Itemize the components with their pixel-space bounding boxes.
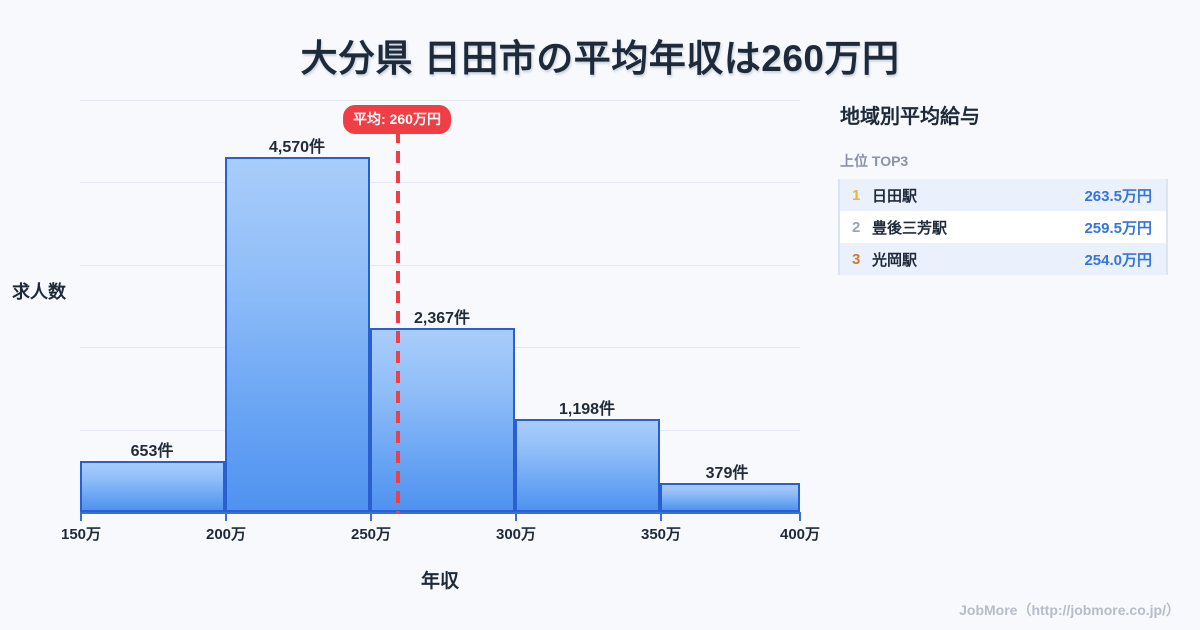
rank-station-name: 日田駅: [872, 185, 1084, 206]
x-tick-label-300: 300万: [496, 523, 536, 544]
x-tick-mark: [515, 512, 517, 521]
x-axis-title: 年収: [80, 566, 800, 593]
x-tick-mark: [660, 512, 662, 521]
bar-bin-3[interactable]: [370, 328, 515, 512]
average-line: [396, 131, 400, 514]
rank-number: 1: [852, 187, 872, 204]
x-tick-mark: [80, 512, 82, 521]
bar-bin-4[interactable]: [515, 419, 660, 512]
x-tick-mark: [225, 512, 227, 521]
average-badge: 平均: 260万円: [343, 105, 451, 134]
rank-station-name: 光岡駅: [872, 249, 1084, 270]
x-tick-label-200: 200万: [206, 523, 246, 544]
bar-value-label-1: 653件: [131, 437, 174, 461]
rank-table: 1 日田駅 263.5万円 2 豊後三芳駅 259.5万円 3 光岡駅 254.…: [838, 179, 1168, 275]
x-tick-label-400: 400万: [780, 523, 820, 544]
bar-value-label-2: 4,570件: [269, 133, 325, 157]
bar-value-label-5: 379件: [706, 459, 749, 483]
x-axis-line: [80, 512, 801, 514]
rank-salary-value: 259.5万円: [1084, 217, 1152, 238]
rank-number: 3: [852, 251, 872, 268]
gridline: [80, 182, 800, 183]
bar-bin-5[interactable]: [660, 483, 800, 512]
bar-value-label-3: 2,367件: [414, 304, 470, 328]
bar-value-label-4: 1,198件: [559, 395, 615, 419]
regional-salary-panel: 地域別平均給与 上位 TOP3 1 日田駅 263.5万円 2 豊後三芳駅 25…: [838, 100, 1168, 275]
x-tick-mark: [370, 512, 372, 521]
rank-station-name: 豊後三芳駅: [872, 217, 1084, 238]
x-tick-label-150: 150万: [61, 523, 101, 544]
table-row[interactable]: 2 豊後三芳駅 259.5万円: [840, 211, 1166, 243]
x-tick-label-350: 350万: [641, 523, 681, 544]
rank-number: 2: [852, 219, 872, 236]
x-tick-mark: [799, 512, 801, 521]
rank-salary-value: 263.5万円: [1084, 185, 1152, 206]
bar-bin-1[interactable]: [80, 461, 225, 512]
y-axis-title: 求人数: [12, 278, 66, 304]
sidebar-heading: 地域別平均給与: [840, 100, 1168, 129]
footer-watermark: JobMore（http://jobmore.co.jp/）: [959, 600, 1180, 620]
bar-bin-2[interactable]: [225, 157, 370, 512]
histogram-chart: 653件 4,570件 2,367件 1,198件 379件 150万 200万…: [0, 0, 840, 630]
x-tick-label-250: 250万: [351, 523, 391, 544]
gridline: [80, 100, 800, 101]
sidebar-subheading: 上位 TOP3: [840, 151, 1168, 171]
table-row[interactable]: 3 光岡駅 254.0万円: [840, 243, 1166, 275]
table-row[interactable]: 1 日田駅 263.5万円: [840, 179, 1166, 211]
rank-salary-value: 254.0万円: [1084, 249, 1152, 270]
gridline: [80, 265, 800, 266]
